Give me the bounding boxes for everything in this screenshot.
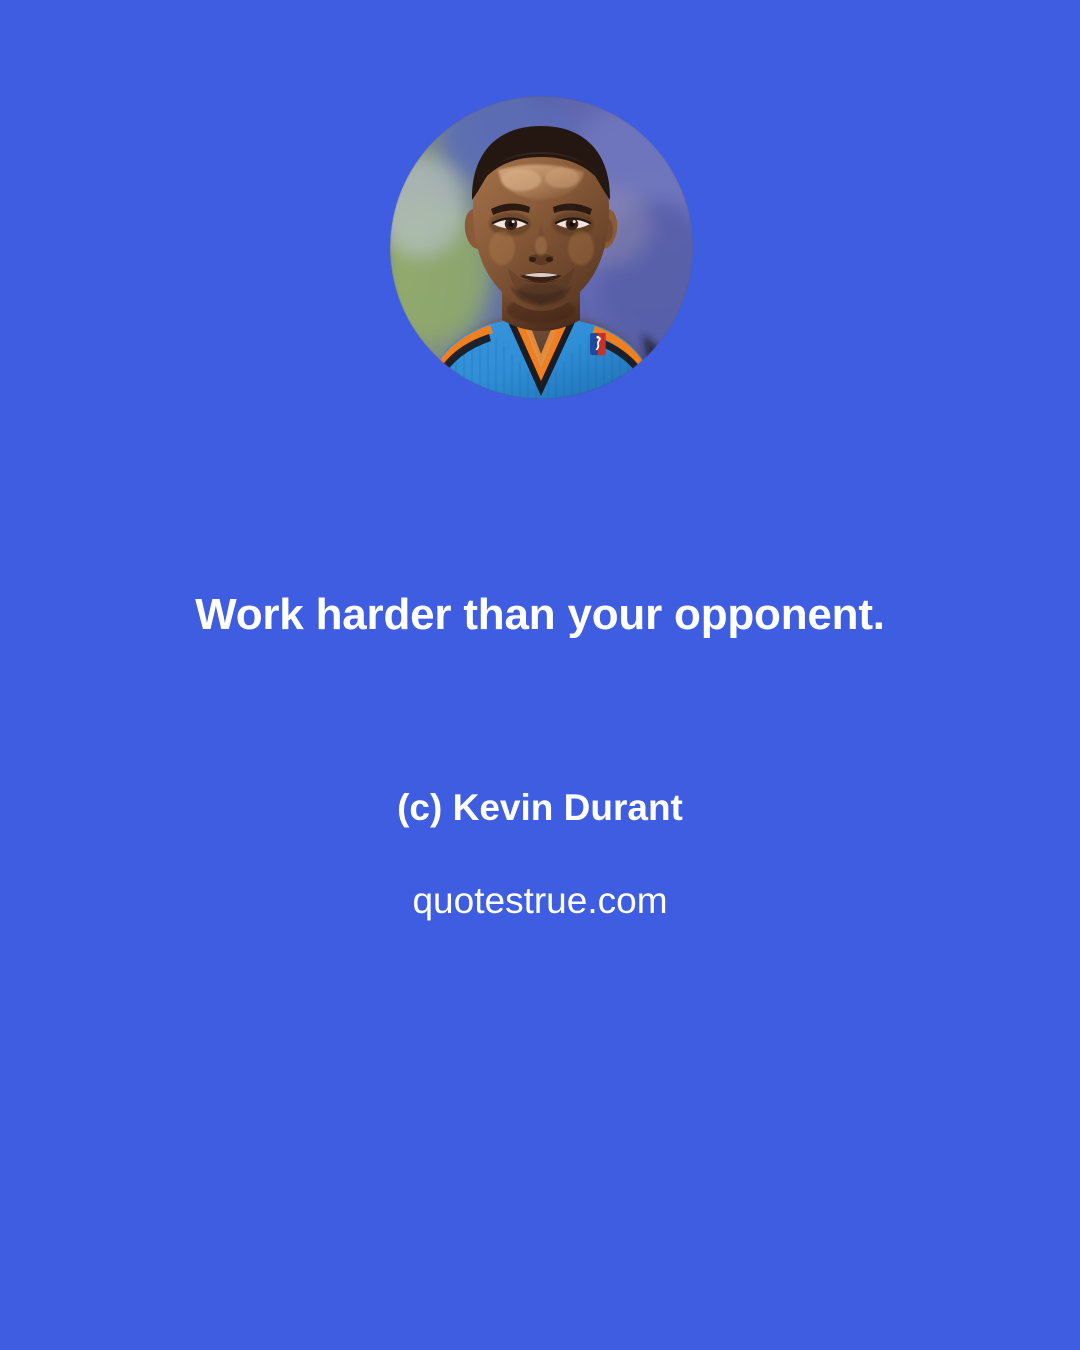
kevin-durant-portrait-icon bbox=[390, 96, 693, 399]
quote-author: (c) Kevin Durant bbox=[0, 786, 1080, 830]
quote-text: Work harder than your opponent. bbox=[0, 588, 1080, 642]
avatar bbox=[390, 96, 693, 399]
quote-card: Work harder than your opponent. (c) Kevi… bbox=[0, 0, 1080, 1350]
portrait-container bbox=[390, 96, 693, 399]
source-website: quotestrue.com bbox=[0, 879, 1080, 923]
